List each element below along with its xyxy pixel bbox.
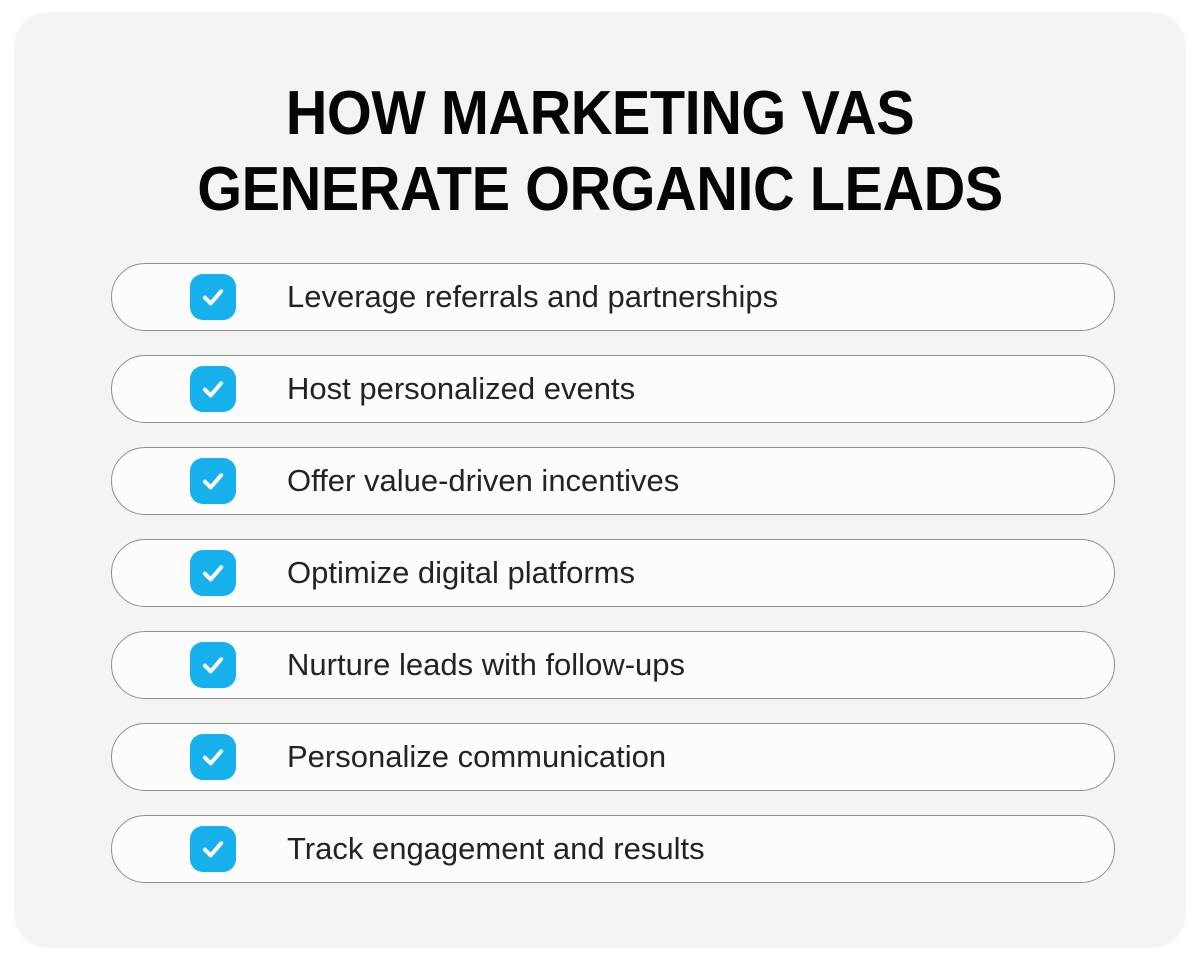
- check-icon: [199, 835, 227, 863]
- checkbox-checked[interactable]: [190, 642, 236, 688]
- title-line-2: GENERATE ORGANIC LEADS: [55, 152, 1145, 228]
- check-icon: [199, 743, 227, 771]
- list-item-label: Nurture leads with follow-ups: [287, 647, 1084, 683]
- check-icon: [199, 375, 227, 403]
- list-item-label: Optimize digital platforms: [287, 555, 1084, 591]
- check-icon: [199, 559, 227, 587]
- check-icon: [199, 467, 227, 495]
- checkbox-checked[interactable]: [190, 458, 236, 504]
- list-item-label: Offer value-driven incentives: [287, 463, 1084, 499]
- checkbox-checked[interactable]: [190, 366, 236, 412]
- list-item[interactable]: Nurture leads with follow-ups: [111, 631, 1115, 699]
- checkbox-checked[interactable]: [190, 550, 236, 596]
- list-item[interactable]: Leverage referrals and partnerships: [111, 263, 1115, 331]
- list-item[interactable]: Personalize communication: [111, 723, 1115, 791]
- page-title: HOW MARKETING VAS GENERATE ORGANIC LEADS: [14, 76, 1186, 228]
- title-line-1: HOW MARKETING VAS: [55, 76, 1145, 152]
- list-item-label: Personalize communication: [287, 739, 1084, 775]
- list-item-label: Leverage referrals and partnerships: [287, 279, 1084, 315]
- list-item[interactable]: Track engagement and results: [111, 815, 1115, 883]
- checkbox-checked[interactable]: [190, 826, 236, 872]
- list-item[interactable]: Offer value-driven incentives: [111, 447, 1115, 515]
- list-item[interactable]: Optimize digital platforms: [111, 539, 1115, 607]
- list-item[interactable]: Host personalized events: [111, 355, 1115, 423]
- check-icon: [199, 283, 227, 311]
- list-item-label: Track engagement and results: [287, 831, 1084, 867]
- check-icon: [199, 651, 227, 679]
- checkbox-checked[interactable]: [190, 734, 236, 780]
- list-item-label: Host personalized events: [287, 371, 1084, 407]
- checkbox-checked[interactable]: [190, 274, 236, 320]
- checklist: Leverage referrals and partnerships Host…: [111, 263, 1115, 883]
- checklist-card: HOW MARKETING VAS GENERATE ORGANIC LEADS…: [14, 12, 1186, 948]
